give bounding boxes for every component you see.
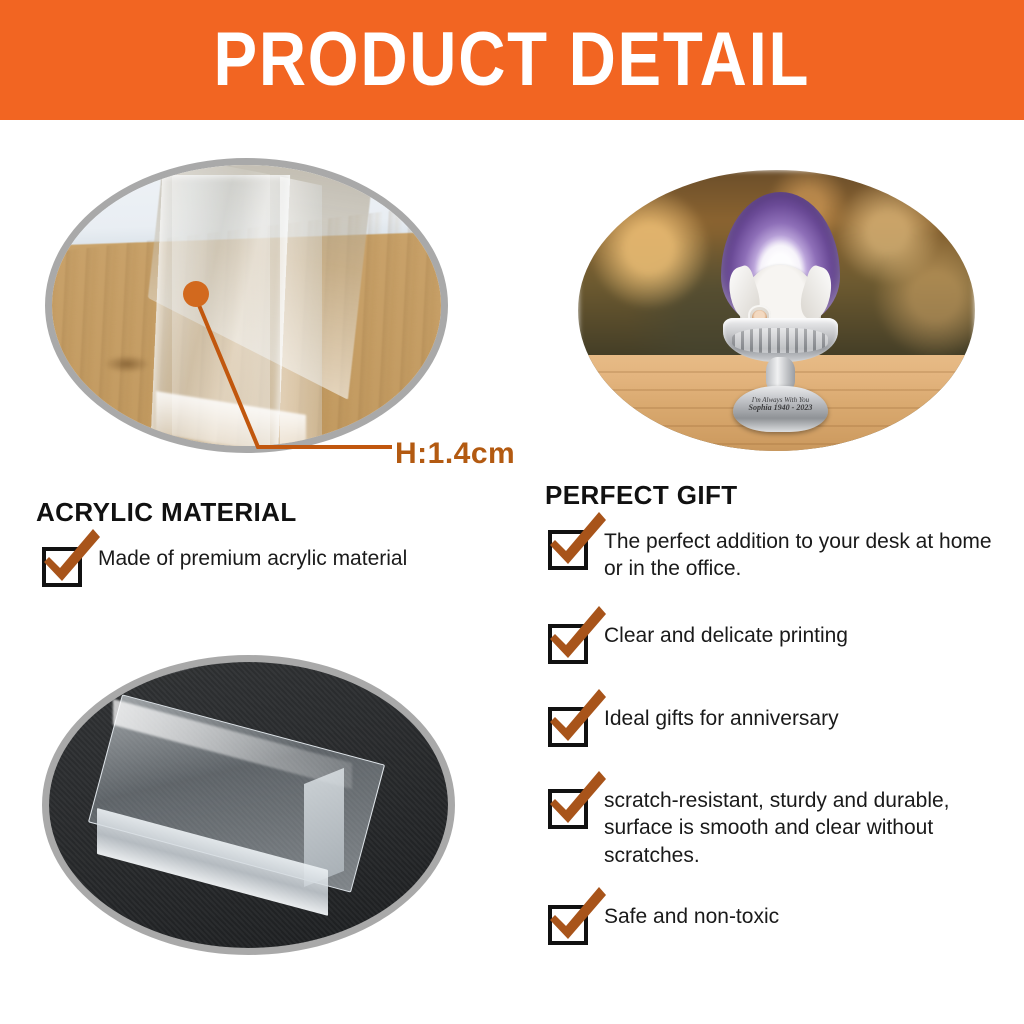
feature-text: Safe and non-toxic	[604, 903, 779, 930]
wood-knot	[104, 355, 150, 373]
feature-item: The perfect addition to your desk at hom…	[548, 528, 1008, 583]
section-title-perfect-gift: PERFECT GIFT	[545, 480, 738, 511]
base-engraving: I'm Always With You Sophia 1940 - 2023	[746, 397, 815, 413]
feature-item: scratch-resistant, sturdy and durable, s…	[548, 787, 1018, 869]
checkbox-checked	[548, 789, 588, 829]
feature-item: Safe and non-toxic	[548, 903, 1008, 945]
product-image-edge-view	[45, 158, 448, 453]
check-icon	[549, 691, 607, 749]
product-image-block-view	[42, 655, 455, 955]
engraving-line-2: Sophia 1940 - 2023	[746, 404, 815, 413]
wood-table-scene	[52, 165, 441, 446]
slate-surface-scene	[49, 662, 448, 948]
feature-item: Made of premium acrylic material	[42, 545, 512, 587]
check-icon	[43, 531, 101, 589]
feature-text: Clear and delicate printing	[604, 622, 848, 649]
feature-text: The perfect addition to your desk at hom…	[604, 528, 1008, 583]
section-title-acrylic-material: ACRYLIC MATERIAL	[36, 497, 297, 528]
dimension-callout-dot	[183, 281, 209, 307]
checkbox-checked	[548, 624, 588, 664]
product-image-figurine: I'm Always With You Sophia 1940 - 2023	[578, 170, 975, 451]
checkbox-checked	[548, 905, 588, 945]
product-detail-page: PRODUCT DETAIL H:1.4cm	[0, 0, 1024, 1024]
angel-figurine: I'm Always With You Sophia 1940 - 2023	[721, 192, 840, 434]
page-title: PRODUCT DETAIL	[214, 22, 811, 98]
checkbox-checked	[42, 547, 82, 587]
check-icon	[549, 773, 607, 831]
check-icon	[549, 608, 607, 666]
checkbox-checked	[548, 707, 588, 747]
check-icon	[549, 514, 607, 572]
feature-item: Clear and delicate printing	[548, 622, 1008, 664]
feature-text: Ideal gifts for anniversary	[604, 705, 839, 732]
dimension-label: H:1.4cm	[395, 437, 515, 471]
pedestal-filigree-crown	[723, 318, 837, 361]
feature-item: Ideal gifts for anniversary	[548, 705, 1008, 747]
header-banner: PRODUCT DETAIL	[0, 0, 1024, 120]
feature-text: scratch-resistant, sturdy and durable, s…	[604, 787, 1018, 869]
check-icon	[549, 889, 607, 947]
feature-text: Made of premium acrylic material	[98, 545, 407, 572]
checkbox-checked	[548, 530, 588, 570]
pedestal-base: I'm Always With You Sophia 1940 - 2023	[733, 386, 828, 432]
